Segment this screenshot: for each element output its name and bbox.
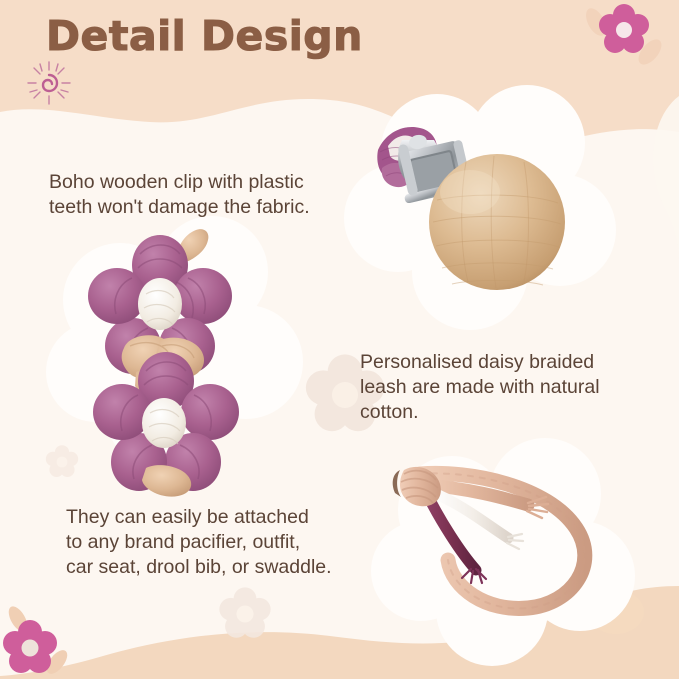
flower-watermark-icon (46, 445, 78, 477)
sun-doodle-icon (24, 58, 74, 108)
wood-bead (429, 154, 565, 290)
infographic-canvas: Detail Design Boho wooden clip with plas… (0, 0, 679, 679)
callout-text-clip: Boho wooden clip with plastic teeth won'… (49, 170, 359, 220)
page-title: Detail Design (46, 12, 363, 60)
callout-text-attach: They can easily be attached to any brand… (66, 505, 376, 580)
flower-watermark-icon (219, 587, 270, 637)
callout-text-leash: Personalised daisy braided leash are mad… (360, 350, 650, 425)
flower-icon-bottom-left (3, 603, 71, 677)
